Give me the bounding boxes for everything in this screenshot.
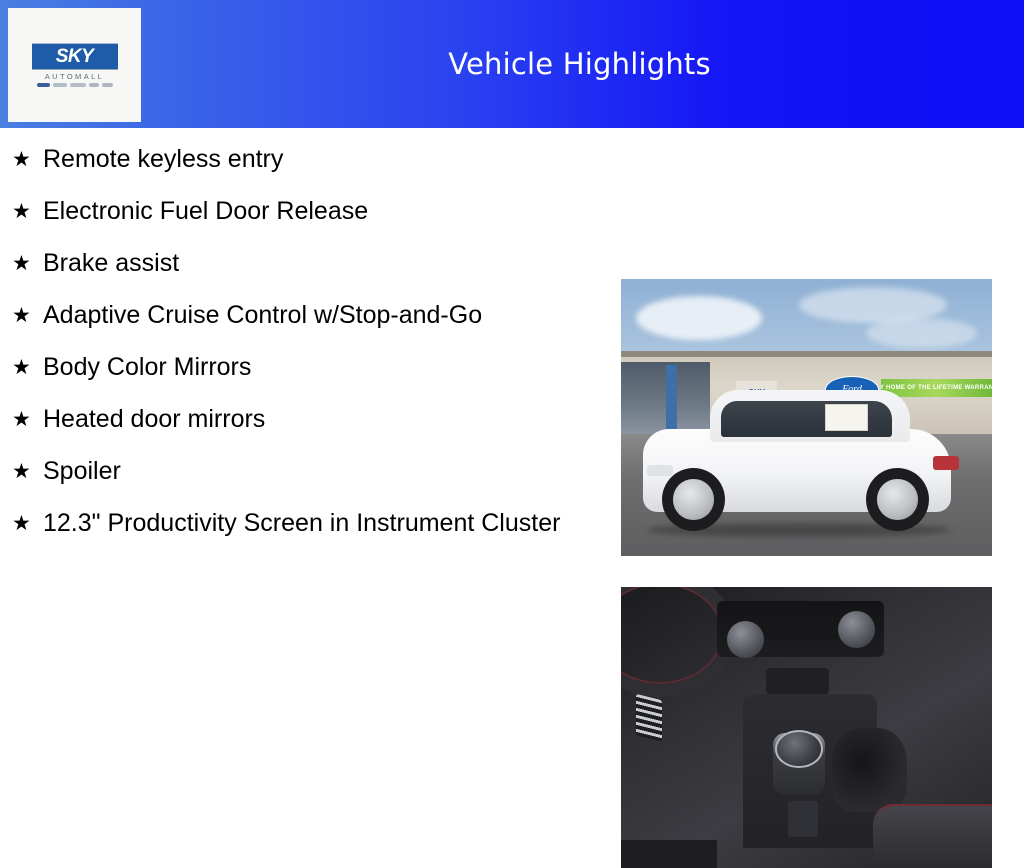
star-icon: ★ <box>12 298 43 332</box>
cloud-shape <box>866 318 977 348</box>
jeep-brand-icon <box>89 83 99 87</box>
driver-seat-edge <box>621 840 717 868</box>
star-icon: ★ <box>12 402 43 436</box>
taillight <box>933 456 959 470</box>
list-item: ★ Spoiler <box>0 454 600 488</box>
vehicle-exterior-photo[interactable]: SKY Ford SKY HOME OF THE LIFETIME WARRAN… <box>621 279 992 556</box>
highlight-text: Remote keyless entry <box>43 142 563 176</box>
sky-logo-badge: SKY <box>32 43 118 70</box>
climate-control-strip <box>762 625 840 639</box>
window-sticker <box>825 404 868 431</box>
list-item: ★ 12.3" Productivity Screen in Instrumen… <box>0 506 600 540</box>
highlight-text: Spoiler <box>43 454 563 488</box>
cupholders <box>832 728 906 812</box>
headlight <box>647 465 673 476</box>
star-icon: ★ <box>12 506 43 540</box>
list-item: ★ Brake assist <box>0 246 600 280</box>
highlight-text: Heated door mirrors <box>43 402 563 436</box>
cloud-shape <box>636 296 762 340</box>
front-wheel <box>662 468 725 531</box>
dealer-logo-inner: SKY AUTOMALL <box>32 43 118 88</box>
usb-port-panel <box>766 668 829 693</box>
highlight-text: Body Color Mirrors <box>43 350 563 384</box>
building-roofline <box>621 351 992 357</box>
highlight-text: Brake assist <box>43 246 563 280</box>
warranty-banner: SKY HOME OF THE LIFETIME WARRANTY <box>881 379 992 397</box>
star-icon: ★ <box>12 454 43 488</box>
list-item: ★ Remote keyless entry <box>0 142 600 176</box>
ford-brand-icon <box>37 83 50 87</box>
passenger-seat <box>873 804 992 868</box>
sky-logo-text: SKY <box>56 47 94 66</box>
star-icon: ★ <box>12 194 43 228</box>
list-item: ★ Heated door mirrors <box>0 402 600 436</box>
dead-pedal <box>636 693 662 742</box>
lincoln-brand-icon <box>53 83 67 87</box>
console-buttons <box>788 801 818 838</box>
page-title: Vehicle Highlights <box>141 0 1024 128</box>
temperature-knob-left <box>727 621 764 658</box>
rotary-gear-selector-icon <box>775 730 823 767</box>
list-item: ★ Electronic Fuel Door Release <box>0 194 600 228</box>
page-header: SKY AUTOMALL Vehicle Highlights <box>0 0 1024 128</box>
star-icon: ★ <box>12 246 43 280</box>
highlight-text: 12.3" Productivity Screen in Instrument … <box>43 506 563 540</box>
temperature-knob-right <box>838 611 875 648</box>
brand-strip-icons <box>32 83 118 87</box>
highlight-text: Electronic Fuel Door Release <box>43 194 563 228</box>
slide-content: ★ Remote keyless entry ★ Electronic Fuel… <box>0 128 1024 768</box>
vehicle-highlights-list: ★ Remote keyless entry ★ Electronic Fuel… <box>0 128 600 540</box>
blue-support-post <box>666 365 677 437</box>
highlight-text: Adaptive Cruise Control w/Stop-and-Go <box>43 298 563 332</box>
ram-brand-icon <box>102 83 113 87</box>
list-item: ★ Body Color Mirrors <box>0 350 600 384</box>
rear-wheel <box>866 468 929 531</box>
list-item: ★ Adaptive Cruise Control w/Stop-and-Go <box>0 298 600 332</box>
chrysler-brand-icon <box>70 83 86 87</box>
automall-logo-text: AUTOMALL <box>45 73 105 81</box>
dealer-logo[interactable]: SKY AUTOMALL <box>8 8 141 122</box>
star-icon: ★ <box>12 350 43 384</box>
star-icon: ★ <box>12 142 43 176</box>
vehicle-interior-photo[interactable] <box>621 587 992 868</box>
